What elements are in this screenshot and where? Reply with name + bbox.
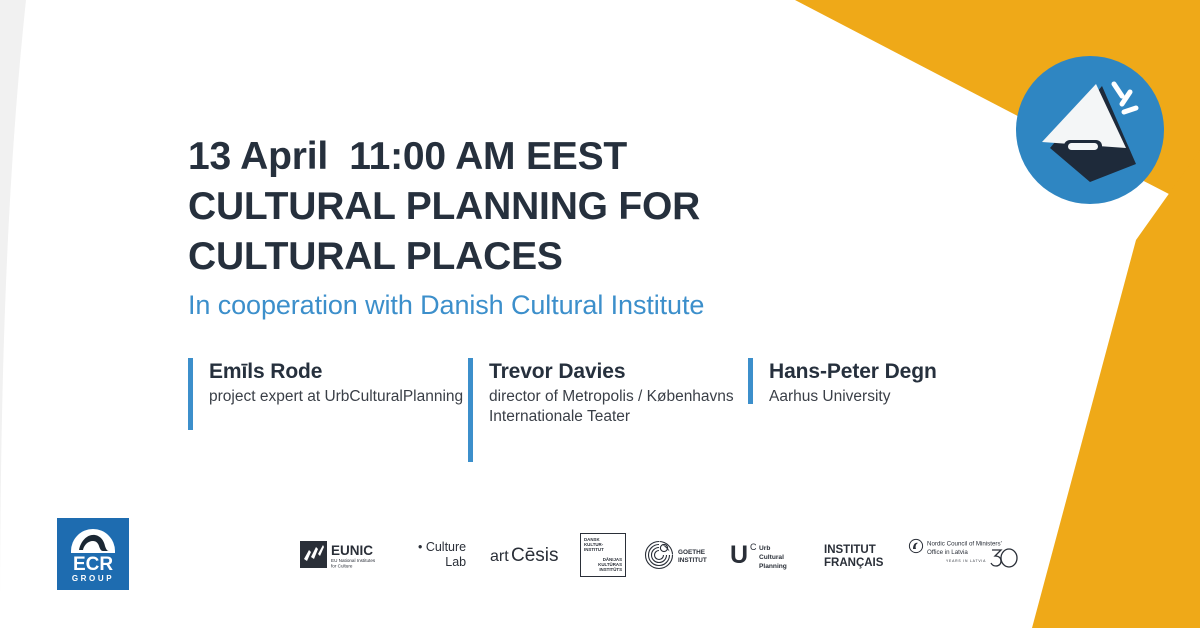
partner-logo-goethe-institut: GOETHE INSTITUT bbox=[644, 539, 716, 571]
artcesis-part-2: Cēsis bbox=[511, 545, 559, 566]
culture-lab-line-2: Lab bbox=[418, 555, 466, 570]
event-banner: 13 April 11:00 AM EEST CULTURAL PLANNING… bbox=[0, 0, 1200, 628]
goethe-line-1: GOETHE bbox=[678, 549, 706, 556]
partner-logo-nordic-council: Nordic Council of Ministers' Office in L… bbox=[908, 537, 1020, 573]
speaker-role: director of Metropolis / Københavns Inte… bbox=[489, 387, 748, 426]
headline-line-2: CULTURAL PLANNING FOR bbox=[188, 182, 928, 232]
ecr-logo-secondary-text: GROUP bbox=[72, 574, 114, 583]
speaker-name: Hans-Peter Degn bbox=[769, 359, 937, 385]
speaker-item: Hans-Peter Degn Aarhus University bbox=[748, 358, 1048, 407]
headline-line-3: CULTURAL PLACES bbox=[188, 232, 928, 282]
urb-mark-c: C bbox=[750, 542, 757, 552]
culture-lab-line-1: • Culture bbox=[418, 540, 466, 555]
partner-logo-culture-lab: • Culture Lab bbox=[406, 540, 478, 570]
speaker-accent-bar bbox=[188, 358, 193, 430]
content-area: 13 April 11:00 AM EEST CULTURAL PLANNING… bbox=[0, 0, 1200, 628]
speaker-item: Emīls Rode project expert at UrbCultural… bbox=[188, 358, 468, 430]
urb-line-3: Planning bbox=[759, 563, 787, 570]
eunic-tagline-2: for Culture bbox=[331, 564, 353, 569]
headline-time: 11:00 AM EEST bbox=[349, 135, 627, 178]
speaker-accent-bar bbox=[468, 358, 473, 462]
nordic-line-1: Nordic Council of Ministers' bbox=[927, 541, 1002, 548]
partner-logo-institut-francais: INSTITUT FRANÇAIS bbox=[822, 539, 894, 571]
speaker-accent-bar bbox=[748, 358, 753, 404]
page-title: 13 April 11:00 AM EEST CULTURAL PLANNING… bbox=[188, 132, 928, 282]
ecr-group-logo: ECR GROUP bbox=[57, 518, 129, 590]
partner-logos: EUNIC EU National Institutes for Culture… bbox=[300, 524, 1020, 586]
ecr-logo-primary-text: ECR bbox=[73, 554, 113, 575]
urb-mark-u: U bbox=[730, 541, 748, 569]
subtitle: In cooperation with Danish Cultural Inst… bbox=[188, 288, 704, 322]
urb-line-2: Cultural bbox=[759, 554, 784, 561]
urb-line-1: Urb bbox=[759, 545, 770, 552]
speaker-name: Trevor Davies bbox=[489, 359, 748, 385]
speaker-item: Trevor Davies director of Metropolis / K… bbox=[468, 358, 748, 462]
partner-logo-danish-cultural-institute: DANSK KULTUR- INSTITUT DĀNIJAS KULTŪRAS … bbox=[578, 533, 628, 577]
nordic-sub: YEARS IN LATVIA bbox=[946, 559, 986, 563]
partner-logo-artcesis: art Cēsis bbox=[488, 542, 566, 568]
if-line-1: INSTITUT bbox=[824, 544, 876, 556]
eunic-tagline-1: EU National Institutes bbox=[331, 558, 376, 563]
speaker-role: project expert at UrbCulturalPlanning bbox=[209, 387, 463, 407]
if-line-2: FRANÇAIS bbox=[824, 557, 884, 569]
nordic-swan-icon bbox=[909, 539, 922, 552]
partner-logo-eunic: EUNIC EU National Institutes for Culture bbox=[300, 538, 396, 572]
headline-date: 13 April bbox=[188, 135, 328, 178]
eunic-name: EUNIC bbox=[331, 543, 373, 558]
partner-logo-urb-cultural-planning: U C Urb Cultural Planning bbox=[730, 538, 806, 572]
artcesis-part-1: art bbox=[490, 548, 509, 565]
dki-bottom-line-3: INSTITŪTS bbox=[599, 567, 622, 572]
nordic-anniversary-mark bbox=[991, 549, 1017, 567]
headline-date-time: 13 April 11:00 AM EEST bbox=[188, 132, 928, 182]
speaker-name: Emīls Rode bbox=[209, 359, 463, 385]
speakers-list: Emīls Rode project expert at UrbCultural… bbox=[188, 358, 1068, 462]
goethe-line-2: INSTITUT bbox=[678, 557, 707, 564]
nordic-line-2: Office in Latvia bbox=[927, 549, 968, 556]
dki-top-line-3: INSTITUT bbox=[584, 547, 604, 552]
speaker-role: Aarhus University bbox=[769, 387, 937, 407]
